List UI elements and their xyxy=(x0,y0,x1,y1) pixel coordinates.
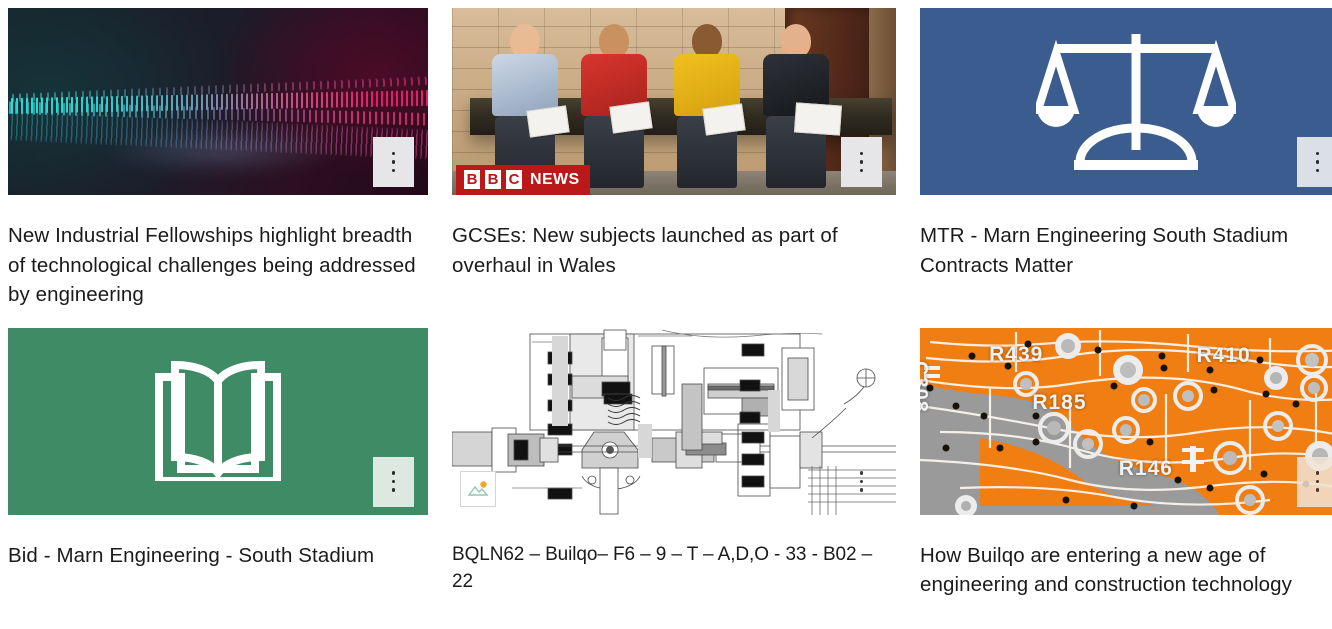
dot-icon xyxy=(1316,480,1320,484)
dot-icon xyxy=(1316,160,1320,164)
abstract-wave-image xyxy=(8,8,428,195)
dot-icon xyxy=(860,488,864,492)
card-title[interactable]: Bid - Marn Engineering - South Stadium xyxy=(8,541,428,571)
dot-icon xyxy=(392,152,396,156)
card-thumbnail[interactable] xyxy=(920,8,1332,195)
pcb-label: R146 xyxy=(1119,457,1173,481)
dot-icon xyxy=(392,169,396,173)
dot-icon xyxy=(392,488,396,492)
book-tile-background xyxy=(8,328,428,515)
news-card[interactable]: MTR - Marn Engineering South Stadium Con… xyxy=(920,8,1332,310)
pcb-label: R185 xyxy=(1032,391,1086,415)
card-thumbnail[interactable]: B B C NEWS xyxy=(452,8,896,195)
pcb-label: R439 xyxy=(989,343,1043,367)
news-card[interactable]: Bid - Marn Engineering - South Stadium xyxy=(8,328,428,600)
card-thumbnail[interactable]: R439 C308 R185 R410 R146 xyxy=(920,328,1332,515)
more-options-button[interactable] xyxy=(373,137,414,187)
news-card[interactable]: R439 C308 R185 R410 R146 How Builqo are … xyxy=(920,328,1332,600)
news-card[interactable]: BQLN62 – Builqo– F6 – 9 – T – A,D,O - 33… xyxy=(452,328,896,600)
bbc-news-logo: B B C NEWS xyxy=(456,165,590,195)
pcb-label: C308 xyxy=(920,361,931,413)
dot-icon xyxy=(392,480,396,484)
bbc-letter: B xyxy=(464,170,480,189)
dot-icon xyxy=(860,160,864,164)
dot-icon xyxy=(392,471,396,475)
students-photo: B B C NEWS xyxy=(452,8,896,195)
dot-icon xyxy=(860,471,864,475)
bbc-news-word: NEWS xyxy=(530,171,580,189)
technical-drawing-image xyxy=(452,328,896,515)
card-thumbnail[interactable] xyxy=(452,328,896,515)
more-options-button[interactable] xyxy=(841,137,882,187)
card-thumbnail[interactable] xyxy=(8,8,428,195)
pcb-label: R410 xyxy=(1196,344,1250,368)
more-options-button[interactable] xyxy=(1297,457,1332,507)
dot-icon xyxy=(860,480,864,484)
dot-icon xyxy=(392,160,396,164)
card-thumbnail[interactable] xyxy=(8,328,428,515)
news-card[interactable]: New Industrial Fellowships highlight bre… xyxy=(8,8,428,310)
dot-icon xyxy=(1316,488,1320,492)
news-card[interactable]: B B C NEWS GCSEs: New subjects launched … xyxy=(452,8,896,310)
open-book-icon xyxy=(153,361,283,481)
broken-image-icon xyxy=(460,471,496,507)
more-options-button[interactable] xyxy=(1297,137,1332,187)
bbc-letter: B xyxy=(485,170,501,189)
dot-icon xyxy=(1316,169,1320,173)
news-card-grid: New Industrial Fellowships highlight bre… xyxy=(0,0,1332,600)
more-options-button[interactable] xyxy=(373,457,414,507)
more-options-button[interactable] xyxy=(841,457,882,507)
dot-icon xyxy=(860,169,864,173)
card-title[interactable]: BQLN62 – Builqo– F6 – 9 – T – A,D,O - 33… xyxy=(452,541,896,596)
card-title[interactable]: New Industrial Fellowships highlight bre… xyxy=(8,221,428,310)
card-title[interactable]: GCSEs: New subjects launched as part of … xyxy=(452,221,896,280)
bbc-letter: C xyxy=(506,170,522,189)
card-title[interactable]: MTR - Marn Engineering South Stadium Con… xyxy=(920,221,1332,280)
scales-of-justice-icon xyxy=(1036,32,1236,172)
dot-icon xyxy=(860,152,864,156)
dot-icon xyxy=(1316,471,1320,475)
scales-tile-background xyxy=(920,8,1332,195)
circuit-board-photo: R439 C308 R185 R410 R146 xyxy=(920,328,1332,515)
dot-icon xyxy=(1316,152,1320,156)
card-title[interactable]: How Builqo are entering a new age of eng… xyxy=(920,541,1332,600)
